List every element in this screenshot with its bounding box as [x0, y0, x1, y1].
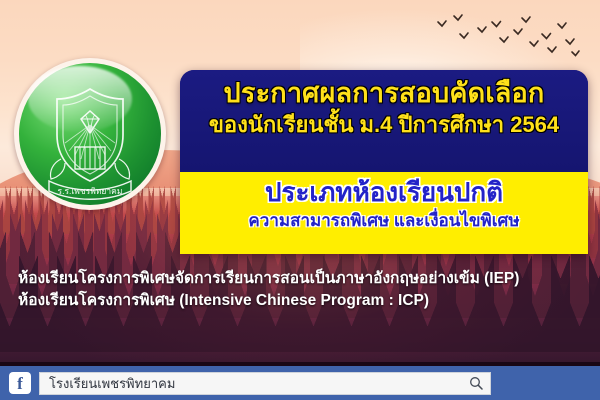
search-input[interactable]: โรงเรียนเพชรพิทยาคม [39, 372, 491, 395]
search-icon[interactable] [469, 376, 483, 390]
program-line-icp: ห้องเรียนโครงการพิเศษ (Intensive Chinese… [18, 290, 588, 312]
banner-subheadline: ของนักเรียนชั้น ม.4 ปีการศึกษา 2564 [180, 111, 588, 140]
announcement-banner: ประกาศผลการสอบคัดเลือก ของนักเรียนชั้น ม… [180, 70, 588, 254]
logo-ribbon-text: ร.ร.เพชรพิทยาคม [58, 186, 123, 196]
facebook-bar: f โรงเรียนเพชรพิทยาคม [0, 366, 600, 400]
banner-yellow-section: ประเภทห้องเรียนปกติ ความสามารถพิเศษ และเ… [180, 172, 588, 254]
search-input-value: โรงเรียนเพชรพิทยาคม [49, 377, 175, 390]
facebook-icon[interactable]: f [9, 372, 31, 394]
banner-category: ประเภทห้องเรียนปกติ [180, 176, 588, 210]
program-line-iep: ห้องเรียนโครงการพิเศษจัดการเรียนการสอนเป… [18, 268, 588, 290]
banner-category-detail: ความสามารถพิเศษ และเงื่อนไขพิเศษ [180, 210, 588, 233]
poster-canvas: ร.ร.เพชรพิทยาคม ประกาศผลการสอบคัดเลือก ข… [0, 0, 600, 400]
banner-headline: ประกาศผลการสอบคัดเลือก [180, 76, 588, 111]
program-list: ห้องเรียนโครงการพิเศษจัดการเรียนการสอนเป… [18, 268, 588, 312]
logo-gloss-highlight [28, 66, 132, 132]
birds-icon [430, 8, 590, 68]
school-logo: ร.ร.เพชรพิทยาคม [14, 58, 166, 210]
banner-blue-section: ประกาศผลการสอบคัดเลือก ของนักเรียนชั้น ม… [180, 70, 588, 172]
